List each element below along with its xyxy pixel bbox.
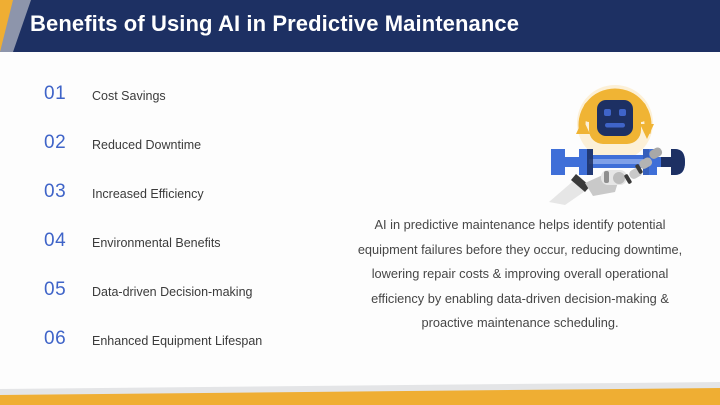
list-item-number: 05 bbox=[44, 280, 92, 300]
list-item-label: Increased Efficiency bbox=[92, 182, 204, 204]
list-item-number: 01 bbox=[44, 84, 92, 104]
list-item-number: 06 bbox=[44, 329, 92, 349]
list-item-label: Environmental Benefits bbox=[92, 231, 221, 253]
list-item-label: Enhanced Equipment Lifespan bbox=[92, 329, 262, 351]
list-item: 05 Data-driven Decision-making bbox=[44, 280, 344, 329]
list-item-number: 03 bbox=[44, 182, 92, 202]
ai-predictive-maintenance-illustration bbox=[543, 75, 693, 210]
list-item: 04 Environmental Benefits bbox=[44, 231, 344, 280]
list-item-number: 04 bbox=[44, 231, 92, 251]
list-item: 03 Increased Efficiency bbox=[44, 182, 344, 231]
list-item: 06 Enhanced Equipment Lifespan bbox=[44, 329, 344, 378]
robot-head-icon bbox=[584, 92, 646, 144]
page-title: Benefits of Using AI in Predictive Maint… bbox=[30, 11, 519, 37]
description-paragraph: AI in predictive maintenance helps ident… bbox=[350, 213, 690, 336]
list-item-label: Cost Savings bbox=[92, 84, 166, 106]
list-item-label: Data-driven Decision-making bbox=[92, 280, 252, 302]
slide-canvas: Benefits of Using AI in Predictive Maint… bbox=[0, 0, 720, 405]
list-item: 01 Cost Savings bbox=[44, 84, 344, 133]
list-item-label: Reduced Downtime bbox=[92, 133, 201, 155]
list-item: 02 Reduced Downtime bbox=[44, 133, 344, 182]
benefits-list: 01 Cost Savings 02 Reduced Downtime 03 I… bbox=[44, 84, 344, 378]
list-item-number: 02 bbox=[44, 133, 92, 153]
